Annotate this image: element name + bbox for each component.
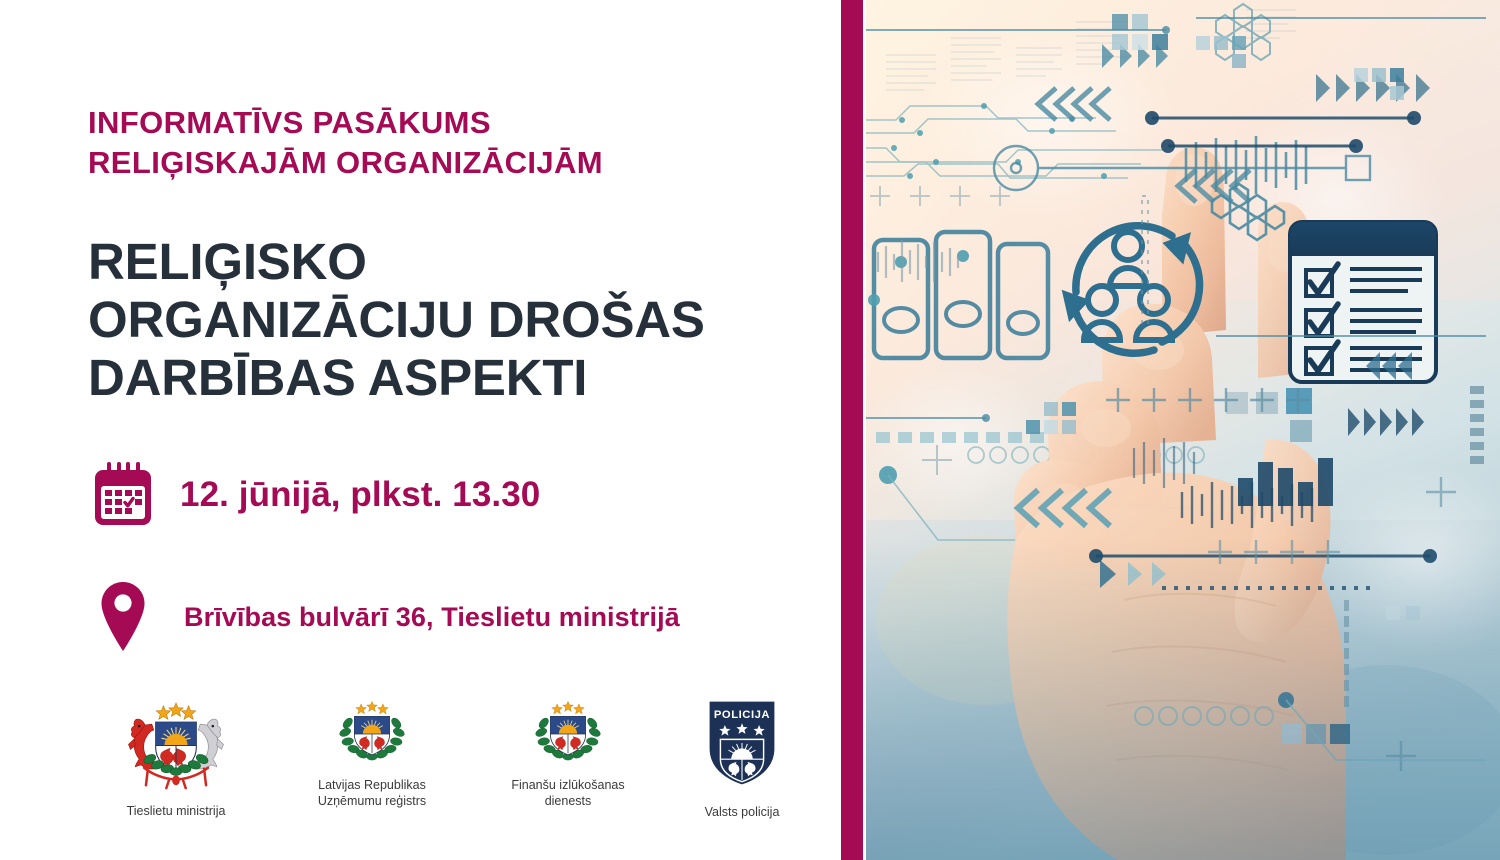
logo-caption-line-1: Latvijas Republikas [318, 778, 426, 792]
headline-line-1: RELIĢISKO [88, 233, 828, 291]
poster-root: INFORMATĪVS PASĀKUMS RELIĢISKAJĀM ORGANI… [0, 0, 1500, 860]
logo-caption-line-2: Uzņēmumu reģistrs [318, 794, 426, 808]
logo-item: Finanšu izlūkošanas dienests [470, 698, 666, 809]
headline-line-3: DARBĪBAS ASPEKTI [88, 349, 828, 407]
logo-caption: Valsts policija [705, 804, 780, 820]
logo-caption-line-1: Finanšu izlūkošanas [511, 778, 624, 792]
logo-item: Tieslietu ministrija [78, 698, 274, 819]
calendar-icon [92, 462, 152, 528]
police-shield-icon: POLICIJA [704, 698, 780, 793]
event-date-text: 12. jūnijā, plkst. 13.30 [180, 475, 540, 515]
map-pin-icon [100, 581, 146, 653]
event-location-text: Brīvības bulvārī 36, Tieslietu ministrij… [184, 602, 680, 633]
event-location-row: Brīvības bulvārī 36, Tieslietu ministrij… [92, 581, 680, 653]
logo-caption-line-1: Tieslietu ministrija [127, 804, 226, 818]
page-title: RELIĢISKO ORGANIZĀCIJU DROŠAS DARBĪBAS A… [88, 233, 828, 407]
eyebrow-line-1: INFORMATĪVS PASĀKUMS [88, 103, 788, 143]
eyebrow-text: INFORMATĪVS PASĀKUMS RELIĢISKAJĀM ORGANI… [88, 103, 788, 184]
logo-item: Latvijas Republikas Uzņēmumu reģistrs [274, 698, 470, 809]
latvian-coat-of-arms-wreath-icon [522, 698, 614, 770]
latvian-coat-of-arms-wreath-icon [326, 698, 418, 770]
logo-caption-line-2: dienests [545, 794, 592, 808]
police-badge-word: POLICIJA [714, 709, 770, 721]
eyebrow-line-2: RELIĢISKAJĀM ORGANIZĀCIJĀM [88, 143, 788, 183]
magenta-divider-stripe [841, 0, 863, 860]
event-date-row: 12. jūnijā, plkst. 13.30 [92, 462, 540, 528]
logo-caption: Finanšu izlūkošanas dienests [511, 777, 624, 809]
logo-caption-line-1: Valsts policija [705, 805, 780, 819]
logo-caption: Latvijas Republikas Uzņēmumu reģistrs [318, 777, 426, 809]
headline-line-2: ORGANIZĀCIJU DROŠAS [88, 291, 828, 349]
latvian-coat-of-arms-full-icon [113, 698, 239, 796]
logo-caption: Tieslietu ministrija [127, 803, 226, 819]
left-content-panel: INFORMATĪVS PASĀKUMS RELIĢISKAJĀM ORGANI… [0, 0, 841, 860]
partner-logos: Tieslietu ministrija [78, 698, 818, 828]
logo-item: POLICIJA [666, 698, 818, 820]
hero-image-panel [866, 0, 1500, 860]
